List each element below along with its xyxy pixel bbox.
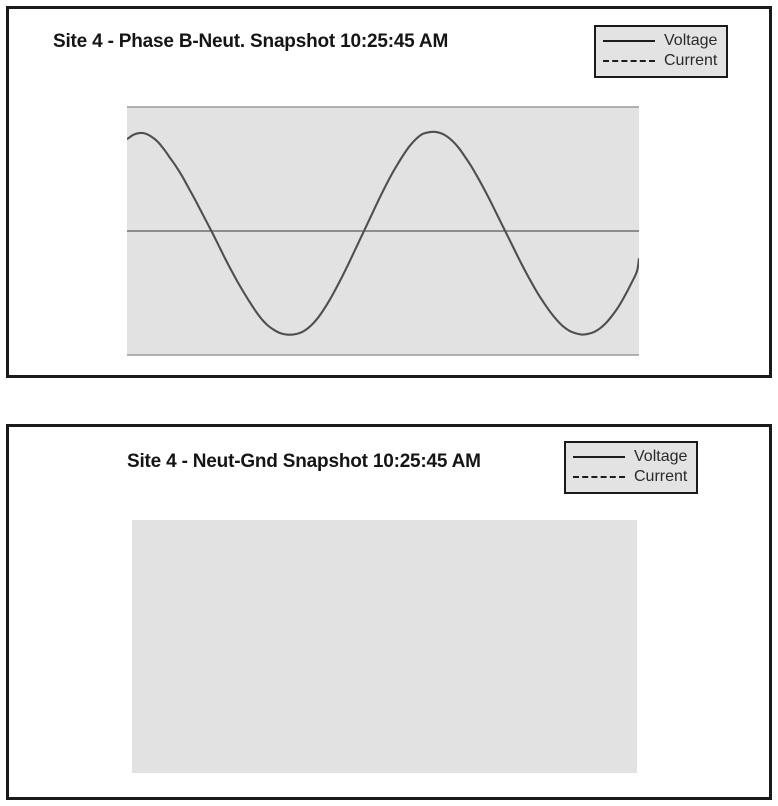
chart-sheet: Site 4 - Phase B-Neut. Snapshot 10:25:45… bbox=[0, 0, 778, 806]
series-layer-1 bbox=[9, 9, 775, 381]
chart-panel-phase-b-neutral: Site 4 - Phase B-Neut. Snapshot 10:25:45… bbox=[6, 6, 772, 378]
chart-panel-neutral-ground: Site 4 - Neut-Gnd Snapshot 10:25:45 AM V… bbox=[6, 424, 772, 800]
plot-region-1 bbox=[9, 9, 775, 381]
plot-region-2 bbox=[9, 427, 775, 803]
series-layer-2 bbox=[9, 427, 775, 803]
series-voltage bbox=[127, 132, 639, 335]
